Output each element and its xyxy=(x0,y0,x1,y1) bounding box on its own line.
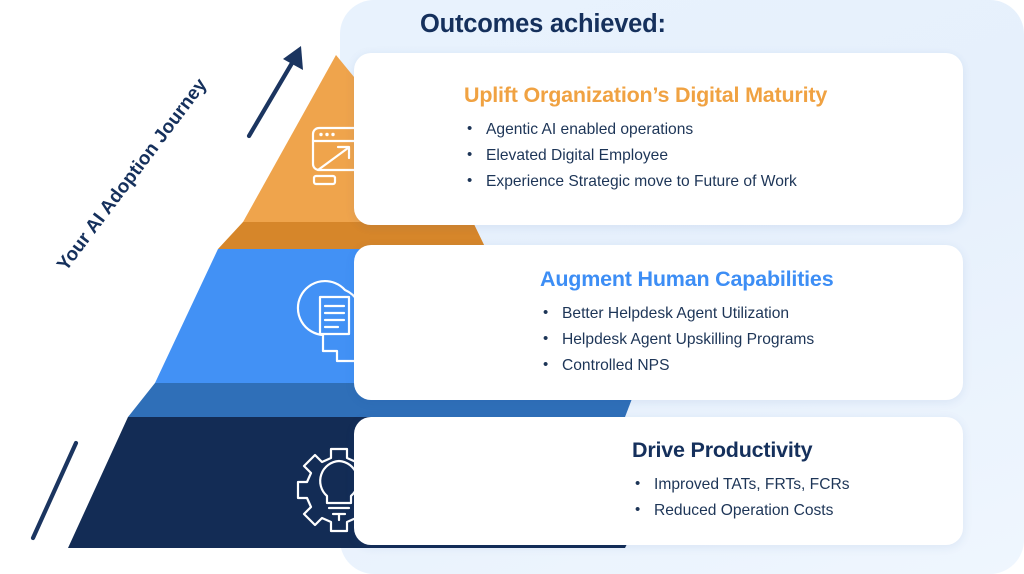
journey-label: Your AI Adoption Journey xyxy=(53,23,251,276)
card-bullets-uplift: Agentic AI enabled operations Elevated D… xyxy=(464,117,949,195)
slide-canvas: Your AI Adoption Journey Outcomes achiev… xyxy=(0,0,1024,574)
card-title-drive: Drive Productivity xyxy=(632,438,949,463)
list-item: Agentic AI enabled operations xyxy=(464,117,949,143)
card-title-uplift: Uplift Organization’s Digital Maturity xyxy=(464,83,949,108)
journey-arrow-tail xyxy=(33,443,76,538)
card-bullets-augment: Better Helpdesk Agent Utilization Helpde… xyxy=(540,301,949,379)
list-item: Better Helpdesk Agent Utilization xyxy=(540,301,949,327)
list-item: Elevated Digital Employee xyxy=(464,143,949,169)
list-item: Controlled NPS xyxy=(540,353,949,379)
list-item: Reduced Operation Costs xyxy=(632,498,949,524)
card-bullets-drive: Improved TATs, FRTs, FCRs Reduced Operat… xyxy=(632,472,949,524)
list-item: Helpdesk Agent Upskilling Programs xyxy=(540,327,949,353)
outcome-card-drive: Drive Productivity Improved TATs, FRTs, … xyxy=(354,417,963,545)
list-item: Improved TATs, FRTs, FCRs xyxy=(632,472,949,498)
card-title-augment: Augment Human Capabilities xyxy=(540,267,949,292)
outcome-card-augment: Augment Human Capabilities Better Helpde… xyxy=(354,245,963,400)
outcome-card-uplift: Uplift Organization’s Digital Maturity A… xyxy=(354,53,963,225)
list-item: Experience Strategic move to Future of W… xyxy=(464,169,949,195)
page-title: Outcomes achieved: xyxy=(420,10,666,39)
